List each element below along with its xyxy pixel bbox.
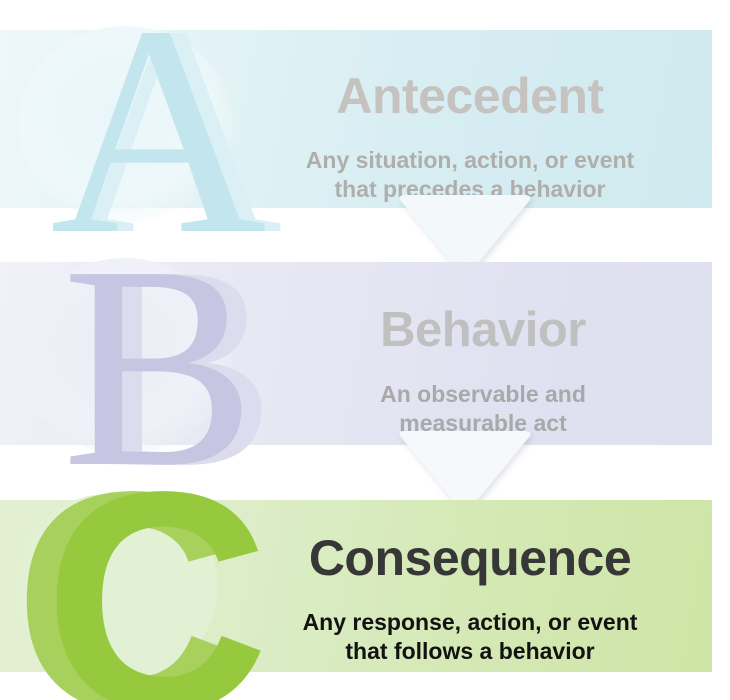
consequence-heading: Consequence <box>240 533 700 584</box>
consequence-text-block: Consequence Any response, action, or eve… <box>240 515 700 684</box>
letter-c-glyph: C <box>44 446 269 700</box>
antecedent-heading: Antecedent <box>240 71 700 122</box>
abc-model-diagram: A A Antecedent Any situation, action, or… <box>0 0 730 700</box>
behavior-heading: Behavior <box>268 306 698 356</box>
consequence-subtitle: Any response, action, or event that foll… <box>240 608 700 666</box>
